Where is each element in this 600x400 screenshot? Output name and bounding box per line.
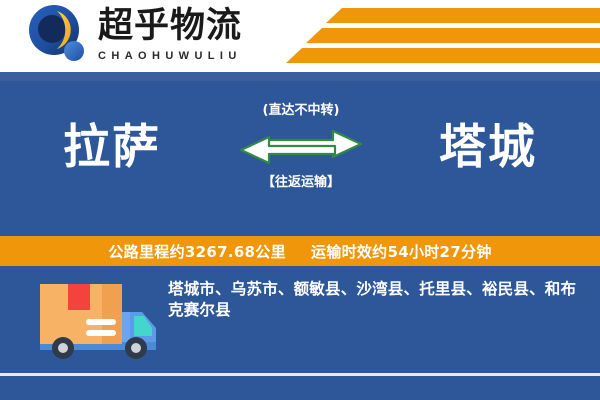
coverage-area-list: 塔城市、乌苏市、额敏县、沙湾县、托里县、裕民县、和布克赛尔县 — [168, 279, 580, 321]
brand-logo[interactable]: 超乎物流 CHAOHUWULIU — [27, 4, 242, 66]
destination-city: 塔城 — [439, 120, 537, 176]
distance-value: 公路里程约3267.68公里 — [108, 243, 286, 261]
bidirectional-arrow-icon — [237, 126, 365, 168]
brand-name-pinyin: CHAOHUWULIU — [98, 50, 242, 62]
direct-service-note: (直达不中转) — [237, 103, 365, 119]
origin-city: 拉萨 — [63, 120, 161, 176]
route-stats-bar: 公路里程约3267.68公里 运输时效约54小时27分钟 — [0, 236, 600, 266]
coverage-divider — [0, 373, 600, 376]
route-arrow-group: (直达不中转) 【往返运输】 — [237, 103, 365, 215]
brand-name-cn: 超乎物流 — [98, 6, 242, 46]
circle-crescent-logo-icon — [27, 4, 89, 66]
delivery-truck-icon — [30, 278, 166, 364]
header: 超乎物流 CHAOHUWULIU — [0, 0, 600, 72]
orange-speed-stripes-icon — [280, 8, 600, 66]
duration-value: 运输时效约54小时27分钟 — [311, 243, 492, 261]
round-trip-note: 【往返运输】 — [237, 175, 365, 191]
stats-line: 公路里程约3267.68公里 运输时效约54小时27分钟 — [108, 241, 491, 262]
route-panel: 拉萨 (直达不中转) 【往返运输】 塔城 — [0, 81, 600, 234]
logistics-route-banner: 超乎物流 CHAOHUWULIU 拉萨 (直达不中转) — [0, 0, 600, 400]
header-divider — [0, 72, 600, 81]
brand-wordmark: 超乎物流 CHAOHUWULIU — [98, 4, 242, 62]
coverage-section: 塔城市、乌苏市、额敏县、沙湾县、托里县、裕民县、和布克赛尔县 — [0, 266, 600, 400]
